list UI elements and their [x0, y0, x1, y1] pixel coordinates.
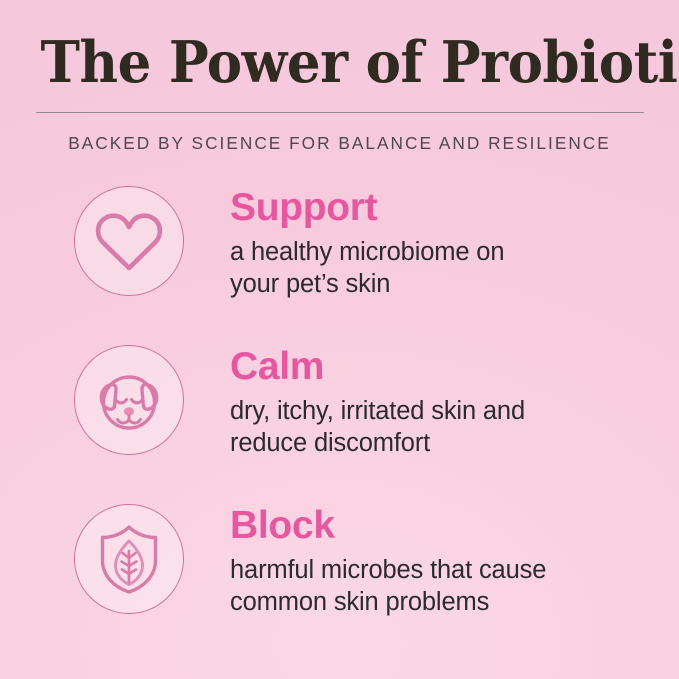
feature-row-block: Block harmful microbes that cause common… — [0, 504, 679, 663]
feature-text-support: Support a healthy microbiome on your pet… — [184, 186, 504, 300]
feature-body-line: a healthy microbiome on — [230, 236, 504, 268]
feature-body-line: reduce discomfort — [230, 427, 525, 459]
probiotics-infographic-poster: The Power of Probiotics BACKED BY SCIENC… — [0, 0, 679, 679]
feature-body-support: a healthy microbiome on your pet’s skin — [230, 236, 504, 300]
shield-leaf-icon-badge — [74, 504, 184, 614]
heart-icon-badge — [74, 186, 184, 296]
dog-face-icon-badge — [74, 345, 184, 455]
feature-body-line: common skin problems — [230, 586, 546, 618]
heart-icon — [93, 208, 165, 274]
feature-row-support: Support a healthy microbiome on your pet… — [0, 186, 679, 345]
page-subtitle: BACKED BY SCIENCE FOR BALANCE AND RESILI… — [5, 133, 674, 154]
feature-heading-calm: Calm — [230, 347, 525, 386]
feature-heading-block: Block — [230, 506, 546, 545]
feature-body-calm: dry, itchy, irritated skin and reduce di… — [230, 395, 525, 459]
feature-list: Support a healthy microbiome on your pet… — [0, 186, 679, 663]
shield-leaf-icon — [95, 522, 163, 596]
dog-face-icon — [92, 364, 166, 436]
feature-text-block: Block harmful microbes that cause common… — [184, 504, 546, 618]
header-divider — [36, 112, 644, 113]
page-title: The Power of Probiotics — [24, 34, 655, 92]
poster-header: The Power of Probiotics BACKED BY SCIENC… — [0, 0, 679, 154]
feature-heading-support: Support — [230, 188, 504, 227]
feature-body-line: your pet’s skin — [230, 268, 504, 300]
feature-row-calm: Calm dry, itchy, irritated skin and redu… — [0, 345, 679, 504]
feature-body-line: dry, itchy, irritated skin and — [230, 395, 525, 427]
feature-body-line: harmful microbes that cause — [230, 554, 546, 586]
feature-text-calm: Calm dry, itchy, irritated skin and redu… — [184, 345, 525, 459]
feature-body-block: harmful microbes that cause common skin … — [230, 554, 546, 618]
